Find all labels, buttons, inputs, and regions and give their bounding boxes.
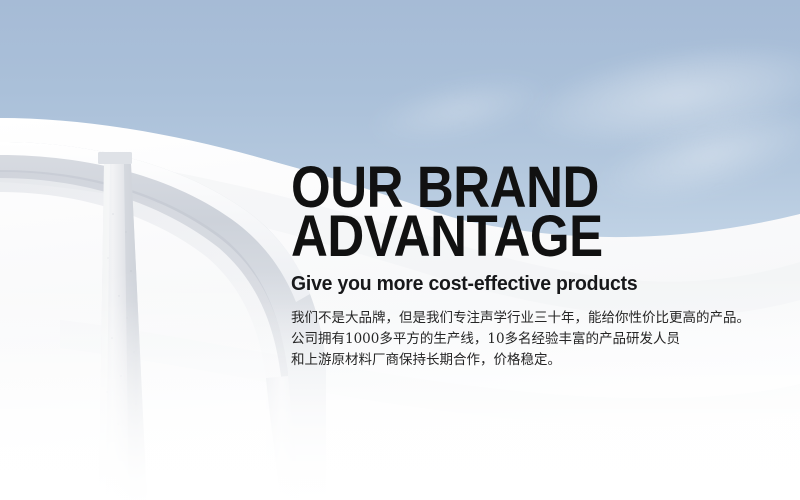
headline-line-2: ADVANTAGE (291, 212, 705, 261)
body-line-3: 和上游原材料厂商保持长期合作，价格稳定。 (291, 350, 761, 371)
body-line-2: 公司拥有1000多平方的生产线，10多名经验丰富的产品研发人员 (291, 329, 761, 350)
body-line-1: 我们不是大品牌，但是我们专注声学行业三十年，能给你性价比更高的产品。 (291, 308, 761, 329)
column-capital (98, 152, 132, 164)
brand-advantage-banner: OUR BRAND ADVANTAGE Give you more cost-e… (0, 0, 800, 500)
body-paragraph: 我们不是大品牌，但是我们专注声学行业三十年，能给你性价比更高的产品。 公司拥有1… (291, 308, 761, 371)
page-title: OUR BRAND ADVANTAGE (291, 163, 705, 261)
subheadline: Give you more cost-effective products (291, 272, 747, 296)
copy-block: OUR BRAND ADVANTAGE Give you more cost-e… (291, 163, 761, 371)
